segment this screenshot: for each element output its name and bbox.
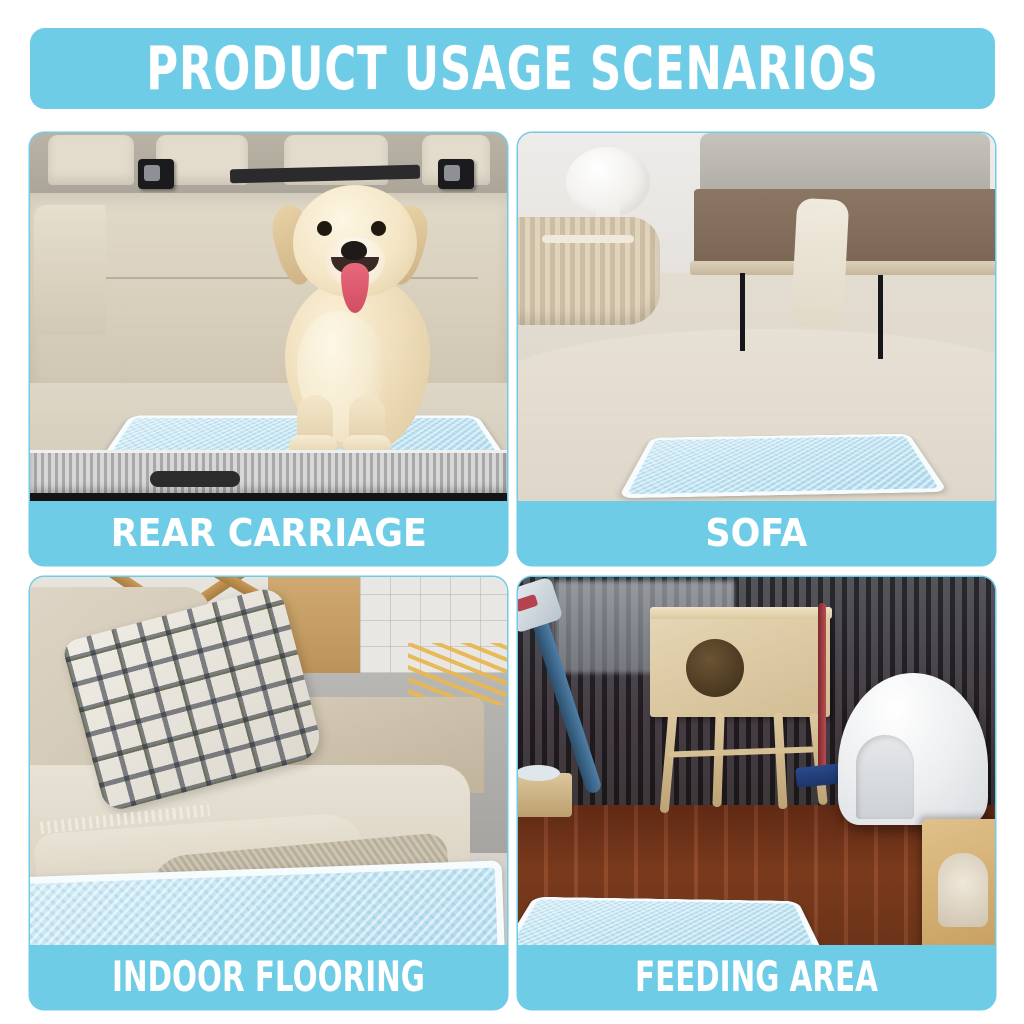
scenario-photo-sofa [518, 133, 995, 501]
basket-handle [542, 235, 634, 243]
scenario-photo-indoor-flooring [30, 577, 507, 945]
puppy-eye [317, 221, 332, 236]
scenario-label-rear-carriage: REAR CARRIAGE [110, 514, 426, 552]
cooling-mat [518, 897, 830, 945]
vacuum-head [518, 577, 564, 634]
car-trunk-latch [150, 471, 240, 487]
scenario-label-indoor-flooring: INDOOR FLOORING [112, 956, 425, 998]
scenario-card-feeding-area[interactable]: FEEDING AREA [518, 577, 995, 1009]
sofa-throw-blanket [791, 198, 850, 329]
pet-bowl-stand [518, 773, 572, 817]
floor-lamp-glow [408, 643, 507, 705]
car-seat-clip [138, 159, 174, 189]
feeding-area-scene [518, 577, 995, 945]
sofa-leg [740, 273, 745, 351]
wooden-pet-crate [922, 819, 995, 945]
puppy-eye [371, 221, 386, 236]
living-room-scene [518, 133, 995, 501]
scenario-card-rear-carriage[interactable]: REAR CARRIAGE [30, 133, 507, 565]
magazine-basket [518, 217, 660, 325]
crate-entry-hole [938, 853, 988, 927]
scenario-label-feeding-area: FEEDING AREA [635, 956, 878, 998]
car-headrest [48, 135, 134, 185]
scenario-photo-feeding-area [518, 577, 995, 945]
golden-retriever-puppy [245, 179, 460, 454]
scenario-grid: REAR CARRIAGE [30, 133, 995, 1009]
mop-handle [818, 603, 826, 771]
scenario-card-indoor-flooring[interactable]: INDOOR FLOORING [30, 577, 507, 1009]
sofa-leg [878, 275, 883, 359]
scenario-label-sofa: SOFA [706, 514, 808, 552]
indoor-sofa-scene [30, 577, 507, 945]
cat-house-entry-hole [686, 639, 744, 697]
igloo-door [856, 735, 914, 819]
scenario-label-bar-indoor-flooring: INDOOR FLOORING [30, 945, 507, 1009]
scenario-label-bar-feeding-area: FEEDING AREA [518, 945, 995, 1009]
page-title-banner: PRODUCT USAGE SCENARIOS [30, 28, 995, 109]
car-trunk-scene [30, 133, 507, 501]
car-seat-bolster [34, 205, 106, 335]
scenario-photo-rear-carriage [30, 133, 507, 501]
cooling-mat [618, 434, 948, 499]
scenario-label-bar-sofa: SOFA [518, 501, 995, 565]
car-bumper [30, 493, 507, 501]
puppy-nose [341, 241, 367, 260]
scenario-label-bar-rear-carriage: REAR CARRIAGE [30, 501, 507, 565]
car-trunk-sill [30, 450, 507, 495]
scenario-card-sofa[interactable]: SOFA [518, 133, 995, 565]
page-title: PRODUCT USAGE SCENARIOS [146, 39, 878, 99]
